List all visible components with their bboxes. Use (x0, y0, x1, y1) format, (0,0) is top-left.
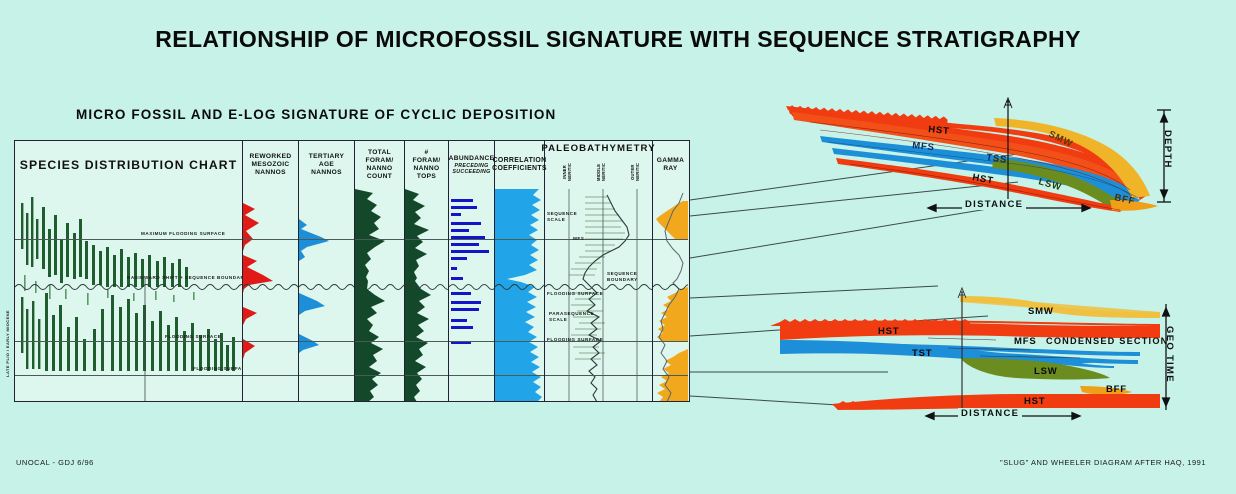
datum-mfs (299, 239, 354, 240)
sequence-boundary-wave (355, 282, 404, 292)
datum-mfs (449, 239, 494, 240)
datum-fs-upper (15, 341, 242, 342)
column-body-correlation-coefficients (495, 189, 545, 401)
column-body-foram-nanno-tops (405, 189, 449, 401)
wheeler-diagram-svg: HST MFS TST LSW BFF HST SMW (780, 282, 1180, 422)
wheeler-diagram: HST MFS TST LSW BFF HST SMW CONDENSED SE… (780, 282, 1180, 422)
species-distribution-chart-panel: SPECIES DISTRIBUTION CHART REWORKED MESO… (14, 140, 690, 402)
label-sequence-scale: SEQUENCE SCALE (547, 211, 579, 223)
abundance-bar-log (449, 189, 495, 401)
wheeler-label-bff: BFF (1106, 384, 1127, 395)
column-header-tertiary-age-nannos: TERTIARY AGE NANNOS (299, 141, 355, 189)
wedge-x-axis-label: DISTANCE (962, 199, 1026, 210)
label-flooding-surface-b: FLOODING SURFACE (547, 337, 603, 342)
datum-mfs (355, 239, 404, 240)
datum-fs-lower (449, 375, 494, 376)
column-body-total-foram-nanno-count (355, 189, 405, 401)
column-body-tertiary-age-nannos (299, 189, 355, 401)
datum-fs-lower (495, 375, 544, 376)
datum-fs-upper (653, 341, 688, 342)
wedge-y-axis-label: DEPTH (1162, 130, 1173, 169)
sequence-boundary-wave (405, 282, 448, 292)
wheeler-label-lsw: LSW (1034, 366, 1058, 377)
column-body-gamma-ray (653, 189, 688, 401)
sequence-boundary-wave (15, 282, 242, 292)
wedge-label-mfs: MFS (912, 140, 935, 153)
datum-mfs (15, 239, 242, 240)
datum-fs-lower (405, 375, 448, 376)
datum-mfs (243, 239, 298, 240)
wheeler-label-mfs: MFS (1014, 336, 1036, 347)
wheeler-x-axis-label: DISTANCE (958, 408, 1022, 419)
page-title: RELATIONSHIP OF MICROFOSSIL SIGNATURE WI… (0, 26, 1236, 53)
datum-mfs (545, 239, 652, 240)
slug-diagram-svg: HST MFS TSS SMW LSW BFF HST (780, 96, 1180, 214)
total-foram-count-log (355, 189, 405, 401)
sequence-boundary-wave (449, 282, 494, 292)
column-header-reworked-mesozoic-nannos: REWORKED MESOZOIC NANNOS (243, 141, 299, 189)
datum-fs-upper (405, 341, 448, 342)
pb-sub-inner-neritic: INNER NERITIC (563, 156, 573, 188)
datum-fs-lower (355, 375, 404, 376)
wheeler-label-smw: SMW (1028, 306, 1054, 317)
column-body-paleobathymetry: SEQUENCE SCALE MFS SEQUENCE BOUNDARY FLO… (545, 189, 653, 401)
datum-fs-lower (299, 375, 354, 376)
wheeler-label-hst-lower: HST (1024, 396, 1045, 407)
datum-fs-lower (243, 375, 298, 376)
column-header-abundance: ABUNDANCE PRECEDING SUCCEEDING (449, 141, 495, 189)
label-sequence-boundary: BASINWARD SHIFT + SEQUENCE BOUNDARY (127, 275, 243, 280)
wedge-label-hst: HST (928, 124, 950, 137)
label-flooding-surface-a: FLOODING SURFACE (547, 291, 603, 296)
pb-sub-middle-neritic: MIDDLE NERITIC (597, 156, 607, 188)
datum-mfs (653, 239, 688, 240)
datum-fs-upper (495, 341, 544, 342)
datum-fs-lower (545, 375, 652, 376)
gamma-ray-log (653, 189, 688, 401)
poster-root: RELATIONSHIP OF MICROFOSSIL SIGNATURE WI… (0, 0, 1236, 494)
wheeler-label-hst: HST (878, 326, 899, 337)
column-header-species-distribution: SPECIES DISTRIBUTION CHART (15, 141, 243, 189)
column-header-total-foram-nanno-count: TOTAL FORAM/ NANNO COUNT (355, 141, 405, 189)
column-body-abundance (449, 189, 495, 401)
sequence-boundary-wave (495, 282, 544, 292)
column-header-paleobathymetry: PALEOBATHYMETRY INNER NERITIC MIDDLE NER… (545, 141, 653, 189)
column-body-species-distribution: MAXIMUM FLOODING SURFACE BASINWARD SHIFT… (15, 189, 243, 401)
wheeler-y-axis-label: GEO TIME (1164, 326, 1175, 383)
label-sequence-boundary-pb: SEQUENCE BOUNDARY (607, 271, 643, 283)
chart-left-edge-age-label: LATE PLIO / EARLY MIOCENE (5, 310, 10, 377)
label-maximum-flooding-surface: MAXIMUM FLOODING SURFACE (141, 231, 225, 236)
column-header-gamma-ray: GAMMA RAY (653, 141, 688, 189)
label-flooding-surface-upper: FLOODING SURFACE (165, 334, 221, 339)
datum-fs-lower (15, 375, 242, 376)
datum-mfs (495, 239, 544, 240)
footer-credit-left: UNOCAL - GDJ 6/96 (16, 458, 94, 467)
paleobathymetry-subheaders: INNER NERITIC MIDDLE NERITIC OUTER NERIT… (545, 156, 652, 189)
chart-subtitle: MICRO FOSSIL AND E-LOG SIGNATURE OF CYCL… (76, 107, 556, 122)
datum-fs-upper (243, 341, 298, 342)
column-body-reworked-mesozoic-nannos (243, 189, 299, 401)
label-mfs: MFS (573, 236, 584, 241)
slug-diagram: HST MFS TSS SMW LSW BFF HST DISTANCE DEP… (780, 96, 1180, 214)
datum-mfs (405, 239, 448, 240)
foram-tops-log (405, 189, 449, 401)
sequence-boundary-wave (299, 282, 354, 292)
reworked-nannos-spike-log (243, 189, 299, 401)
pb-sub-outer-neritic: OUTER NERITIC (631, 156, 641, 188)
datum-fs-upper (355, 341, 404, 342)
label-flooding-surface-lower: FLOODING SURFACE (193, 367, 243, 372)
datum-fs-upper (299, 341, 354, 342)
sequence-boundary-wave (653, 282, 688, 292)
column-header-foram-nanno-tops: # FORAM/ NANNO TOPS (405, 141, 449, 189)
sequence-boundary-wave (243, 282, 298, 292)
datum-fs-lower (653, 375, 688, 376)
wheeler-label-tst: TST (912, 348, 932, 359)
condensed-section-label: CONDENSED SECTION (1046, 336, 1169, 346)
datum-fs-upper (449, 341, 494, 342)
correlation-coefficient-log (495, 189, 545, 401)
footer-credit-right: "SLUG" AND WHEELER DIAGRAM AFTER HAQ, 19… (1000, 458, 1206, 467)
label-parasequence-scale: PARASEQUENCE SCALE (549, 311, 585, 323)
column-header-correlation-coefficients: CORRELATION COEFFICIENTS (495, 141, 545, 189)
tertiary-nannos-spike-log (299, 189, 355, 401)
